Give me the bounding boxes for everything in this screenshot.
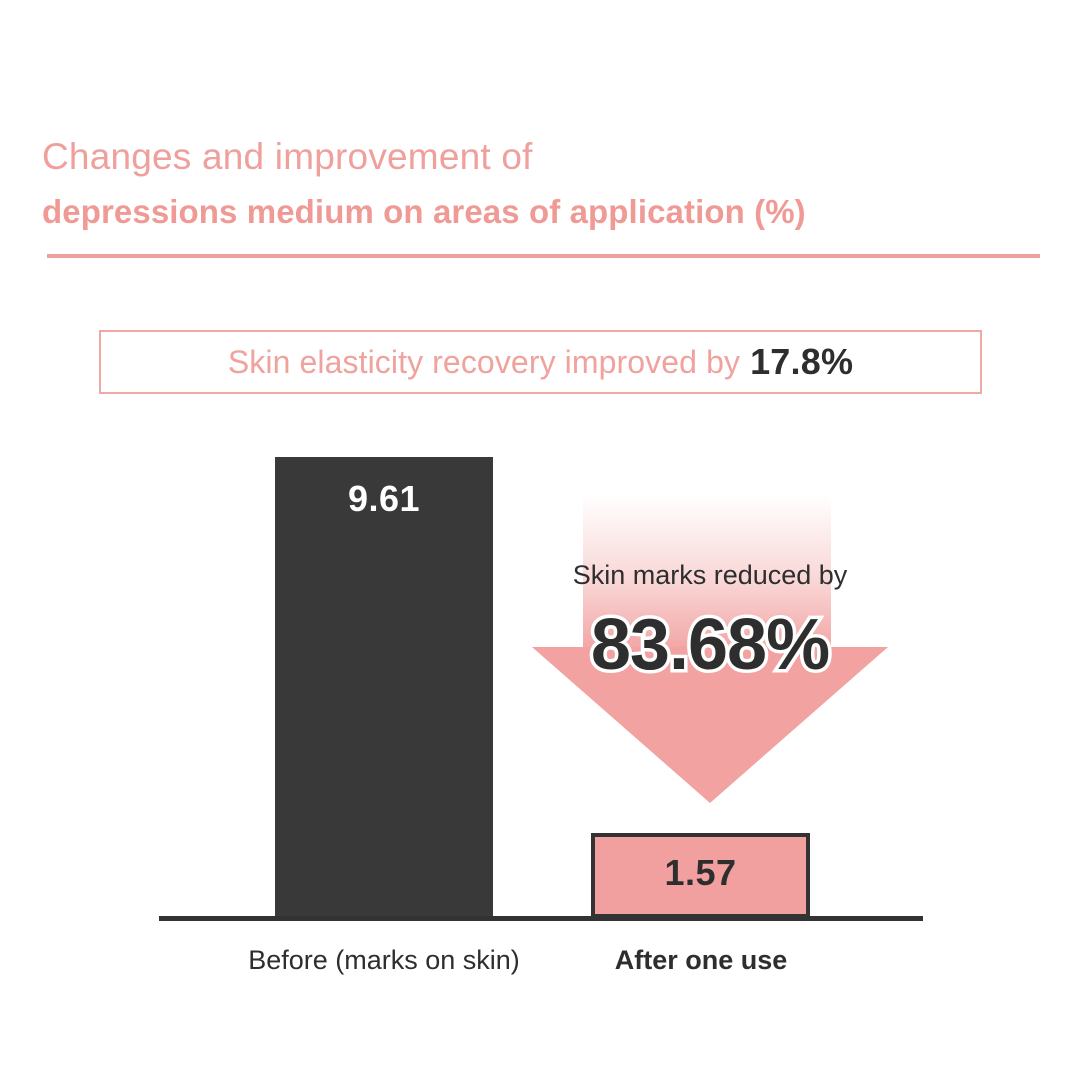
bar-chart: 9.61 1.57 Skin marks reduced by 83.68% B…: [0, 0, 1080, 1080]
x-axis-line: [159, 916, 923, 921]
callout-label: Skin marks reduced by: [500, 560, 920, 591]
bar-before-value-label: 9.61: [275, 478, 493, 520]
x-axis-label-before: Before (marks on skin): [215, 945, 553, 976]
bar-after-value-label: 1.57: [591, 852, 810, 894]
bar-before: [275, 457, 493, 917]
callout-value: 83.68%: [490, 604, 930, 686]
x-axis-label-after: After one use: [551, 945, 851, 976]
